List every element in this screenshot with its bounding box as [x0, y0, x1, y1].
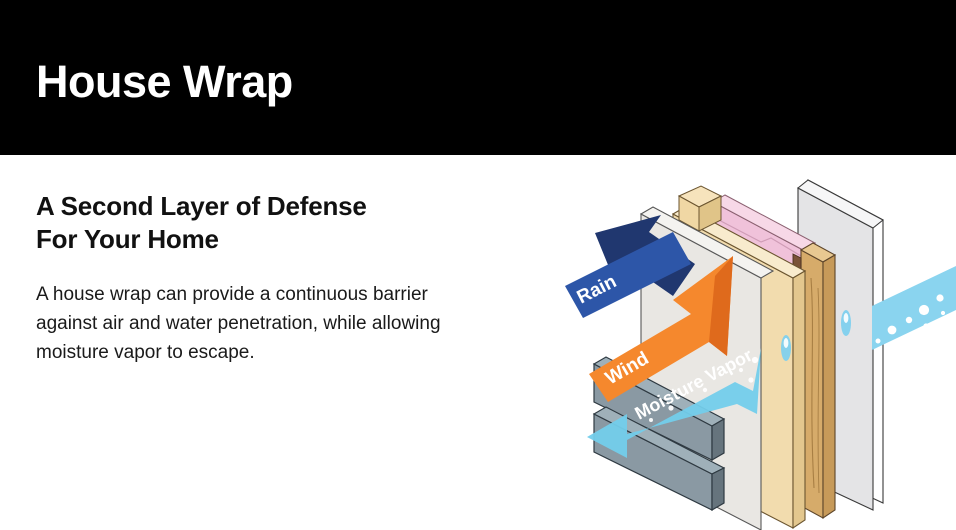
wall-assembly-illustration: Moisture Vapor Wind Rain — [565, 158, 956, 530]
layer-wood-stud — [801, 243, 835, 518]
headline-line-1: A Second Layer of Defense — [36, 190, 566, 223]
headline: A Second Layer of Defense For Your Home — [36, 190, 566, 256]
body-line-1: A house wrap can provide a continuous ba… — [36, 280, 566, 309]
body-line-2: against air and water penetration, while… — [36, 309, 566, 338]
page-root: House Wrap A Second Layer of Defense For… — [0, 0, 956, 530]
headline-line-2: For Your Home — [36, 223, 566, 256]
header-band: House Wrap — [0, 0, 956, 155]
vapor-exit-band — [872, 266, 956, 350]
page-title: House Wrap — [36, 54, 293, 110]
copy-column: A Second Layer of Defense For Your Home … — [36, 190, 566, 367]
body-line-3: moisture vapor to escape. — [36, 338, 566, 367]
body-paragraph: A house wrap can provide a continuous ba… — [36, 256, 566, 367]
